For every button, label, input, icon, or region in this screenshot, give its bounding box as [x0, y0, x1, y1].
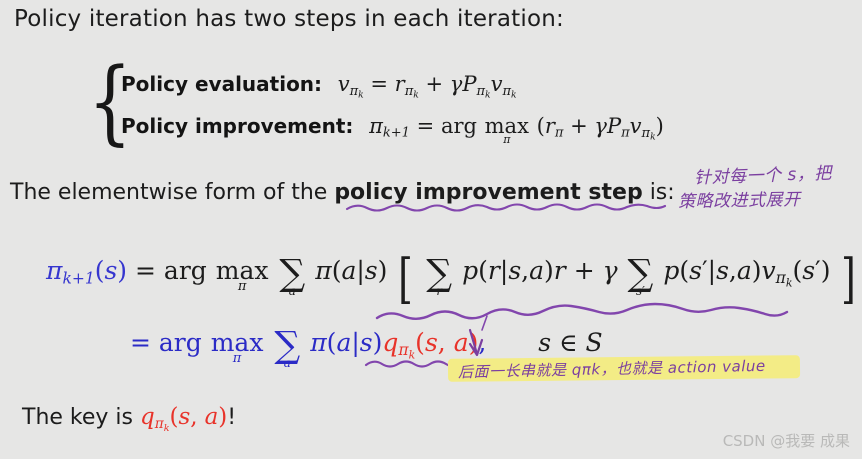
handwritten-note-top-1: 针对每一个 s，把 [694, 159, 833, 189]
key-line-suffix: ! [227, 405, 236, 430]
case-row: Policy improvement: πk+1 = arg maxπ (rπ … [121, 114, 664, 142]
policy-evaluation-label: Policy evaluation: [121, 72, 322, 96]
equation-line-1: πk+1(s) = arg maxπ ∑a π(a|s) [ ∑r p(r|s,… [46, 256, 859, 291]
policy-evaluation-equation: vπk = rπk + γPπkvπk [338, 72, 517, 96]
key-line-prefix: The key is [22, 405, 140, 430]
squiggle-under-policy-improvement-step [347, 205, 665, 211]
policy-improvement-label: Policy improvement: [121, 114, 353, 138]
elementwise-suffix: is: [643, 180, 675, 205]
case-row: Policy evaluation: vπk = rπk + γPπkvπk [121, 72, 517, 100]
watermark: CSDN @我要 成果 [723, 430, 850, 451]
intro-line: Policy iteration has two steps in each i… [14, 6, 564, 32]
squiggle-under-bracket-expression [377, 304, 787, 319]
policy-improvement-equation: πk+1 = arg maxπ (rπ + γPπvπk) [369, 114, 664, 138]
slide-canvas: Policy iteration has two steps in each i… [0, 0, 862, 459]
key-line-q-term: qπk(s, a) [140, 405, 227, 430]
key-line: The key is qπk(s, a)! [22, 404, 236, 434]
elementwise-emphasis: policy improvement step [334, 180, 642, 205]
handwritten-note-top-2: 策略改进式展开 [678, 185, 801, 212]
elementwise-prefix: The elementwise form of the [10, 180, 334, 205]
elementwise-sentence: The elementwise form of the policy impro… [10, 180, 675, 205]
q-term-highlighted: qπk(s, a) [382, 328, 478, 357]
